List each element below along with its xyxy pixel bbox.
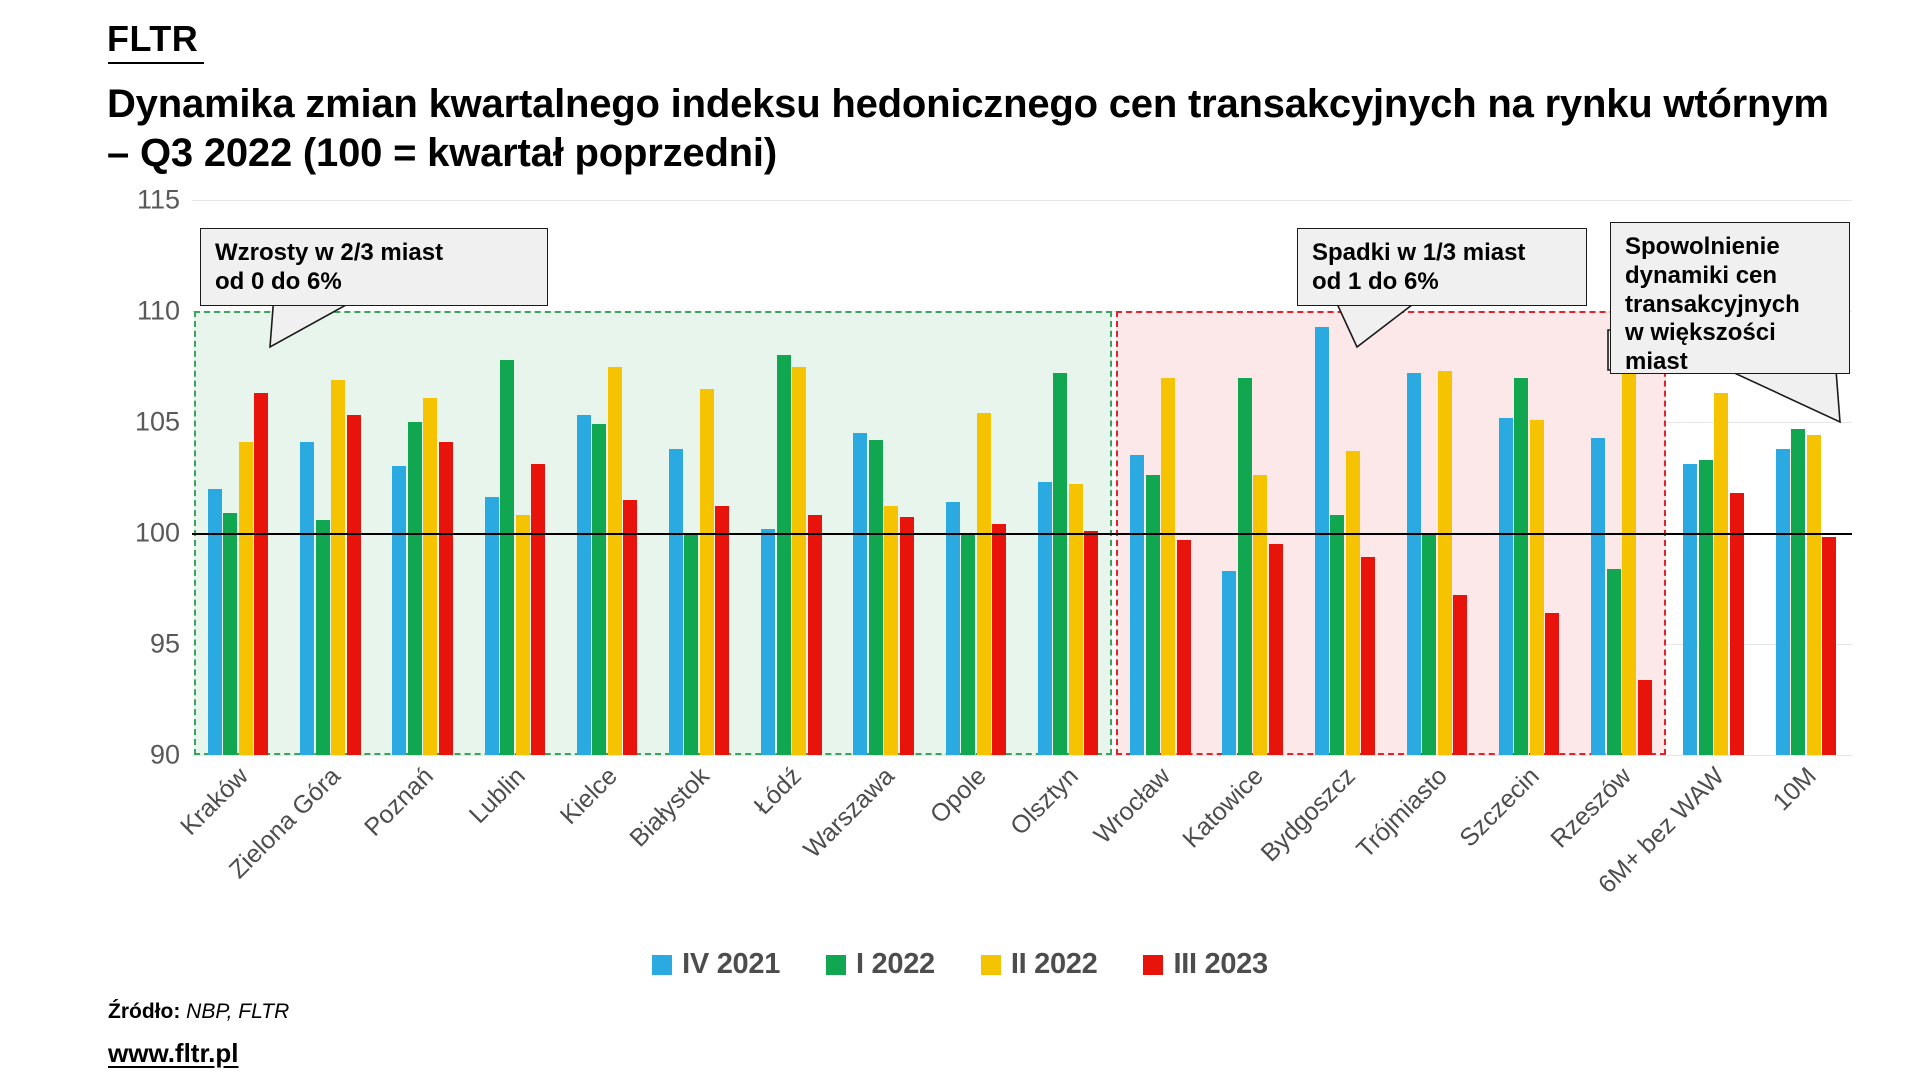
- bar[interactable]: [408, 422, 422, 755]
- bar[interactable]: [1238, 378, 1252, 755]
- x-axis-label: Rzeszów: [1546, 762, 1638, 854]
- chart-legend: IV 2021I 2022II 2022III 2023: [0, 948, 1920, 981]
- bar-group: [1206, 200, 1298, 755]
- bar[interactable]: [1530, 420, 1544, 755]
- x-axis-label: Kielce: [555, 762, 624, 831]
- bar[interactable]: [808, 515, 822, 755]
- y-axis-tick-label: 105: [70, 407, 180, 438]
- bar[interactable]: [239, 442, 253, 755]
- bar[interactable]: [1253, 475, 1267, 755]
- legend-swatch-icon: [981, 955, 1001, 975]
- bar[interactable]: [669, 449, 683, 755]
- bar[interactable]: [1807, 435, 1821, 755]
- callout-growth-text: Wzrosty w 2/3 miast od 0 do 6%: [215, 239, 535, 297]
- x-axis-label: 10M: [1767, 762, 1822, 817]
- bar[interactable]: [1330, 515, 1344, 755]
- x-axis-label: Trójmiasto: [1351, 762, 1453, 864]
- y-axis-tick-label: 90: [70, 740, 180, 771]
- bar[interactable]: [500, 360, 514, 755]
- x-axis-label: Szczecin: [1454, 762, 1545, 853]
- x-axis-label: Poznań: [359, 762, 439, 842]
- bar[interactable]: [208, 489, 222, 755]
- bar[interactable]: [300, 442, 314, 755]
- gridline: [192, 755, 1852, 756]
- y-axis-tick-label: 110: [70, 296, 180, 327]
- bar[interactable]: [884, 506, 898, 755]
- x-axis-label: Lublin: [464, 762, 532, 830]
- bar[interactable]: [1069, 484, 1083, 755]
- bar[interactable]: [869, 440, 883, 755]
- x-axis-label: Wrocław: [1089, 762, 1177, 850]
- y-axis-tick-label: 115: [70, 185, 180, 216]
- bar[interactable]: [792, 367, 806, 756]
- bar[interactable]: [1699, 460, 1713, 755]
- legend-label: I 2022: [856, 948, 935, 981]
- bar[interactable]: [423, 398, 437, 755]
- bar[interactable]: [1438, 371, 1452, 755]
- legend-item[interactable]: I 2022: [826, 948, 935, 981]
- bar[interactable]: [684, 533, 698, 755]
- y-axis-tick-label: 95: [70, 629, 180, 660]
- callout-slowdown-text: Spowolnienie dynamiki cen transakcyjnych…: [1625, 233, 1837, 377]
- callout-decline: Spadki w 1/3 miast od 1 do 6%: [1297, 228, 1587, 306]
- legend-item[interactable]: III 2023: [1143, 948, 1267, 981]
- bar[interactable]: [592, 424, 606, 755]
- y-axis-tick-label: 100: [70, 518, 180, 549]
- bar[interactable]: [623, 500, 637, 755]
- bar[interactable]: [853, 433, 867, 755]
- bar[interactable]: [439, 442, 453, 755]
- legend-swatch-icon: [652, 955, 672, 975]
- x-axis-label: Łódź: [749, 762, 808, 821]
- brand-logo: FLTR: [107, 18, 198, 60]
- legend-swatch-icon: [1143, 955, 1163, 975]
- page-title: Dynamika zmian kwartalnego indeksu hedon…: [107, 80, 1847, 178]
- legend-item[interactable]: IV 2021: [652, 948, 780, 981]
- bar[interactable]: [715, 506, 729, 755]
- bar[interactable]: [1607, 569, 1621, 755]
- bar[interactable]: [1591, 438, 1605, 755]
- bar[interactable]: [392, 466, 406, 755]
- bar[interactable]: [900, 517, 914, 755]
- callout-growth: Wzrosty w 2/3 miast od 0 do 6%: [200, 228, 548, 306]
- legend-label: II 2022: [1011, 948, 1098, 981]
- source-label: Źródło:: [108, 1000, 180, 1023]
- bar[interactable]: [608, 367, 622, 756]
- bar[interactable]: [1146, 475, 1160, 755]
- bar[interactable]: [1545, 613, 1559, 755]
- bar[interactable]: [485, 497, 499, 755]
- bar-group: [653, 200, 745, 755]
- bar[interactable]: [961, 533, 975, 755]
- x-axis-label: Bydgoszcz: [1255, 762, 1361, 868]
- bar-group: [1022, 200, 1114, 755]
- callout-slowdown: Spowolnienie dynamiki cen transakcyjnych…: [1610, 222, 1850, 374]
- bar-group: [1114, 200, 1206, 755]
- chart-page: FLTR Dynamika zmian kwartalnego indeksu …: [0, 0, 1920, 1080]
- bar[interactable]: [777, 355, 791, 755]
- legend-swatch-icon: [826, 955, 846, 975]
- x-axis-label: Białystok: [624, 762, 715, 853]
- bar[interactable]: [1453, 595, 1467, 755]
- legend-label: III 2023: [1173, 948, 1267, 981]
- bar[interactable]: [316, 520, 330, 755]
- legend-item[interactable]: II 2022: [981, 948, 1098, 981]
- website-link[interactable]: www.fltr.pl: [108, 1038, 238, 1069]
- bar[interactable]: [700, 389, 714, 755]
- bar[interactable]: [1053, 373, 1067, 755]
- source-value: NBP, FLTR: [186, 1000, 289, 1023]
- bar[interactable]: [1130, 455, 1144, 755]
- bar[interactable]: [577, 415, 591, 755]
- bar[interactable]: [223, 513, 237, 755]
- bar-group: [745, 200, 837, 755]
- callout-decline-text: Spadki w 1/3 miast od 1 do 6%: [1312, 239, 1574, 297]
- bar[interactable]: [1683, 464, 1697, 755]
- baseline-100-line: [192, 533, 1852, 535]
- x-axis-labels: KrakówZielona GóraPoznańLublinKielceBiał…: [192, 762, 1852, 942]
- bar[interactable]: [1222, 571, 1236, 755]
- x-axis-label: Opole: [925, 762, 993, 830]
- bar[interactable]: [1822, 537, 1836, 755]
- bar[interactable]: [1638, 680, 1652, 755]
- bar[interactable]: [1499, 418, 1513, 755]
- legend-label: IV 2021: [682, 948, 780, 981]
- bar[interactable]: [254, 393, 268, 755]
- bar[interactable]: [946, 502, 960, 755]
- bar-group: [930, 200, 1022, 755]
- bar[interactable]: [347, 415, 361, 755]
- bar[interactable]: [331, 380, 345, 755]
- x-axis-label: Olsztyn: [1005, 762, 1084, 841]
- bar[interactable]: [1514, 378, 1528, 755]
- bar[interactable]: [1038, 482, 1052, 755]
- bar[interactable]: [1084, 531, 1098, 755]
- bar-group: [838, 200, 930, 755]
- brand-underline: [108, 62, 204, 64]
- bar[interactable]: [1776, 449, 1790, 755]
- bar[interactable]: [516, 515, 530, 755]
- bar[interactable]: [761, 529, 775, 755]
- bar[interactable]: [531, 464, 545, 755]
- bar[interactable]: [977, 413, 991, 755]
- bar[interactable]: [1161, 378, 1175, 755]
- bar[interactable]: [1361, 557, 1375, 755]
- x-axis-label: Katowice: [1177, 762, 1269, 854]
- bar[interactable]: [1346, 451, 1360, 755]
- bar[interactable]: [1177, 540, 1191, 755]
- x-axis-label: Warszawa: [798, 762, 900, 864]
- bar[interactable]: [1791, 429, 1805, 755]
- bar[interactable]: [1315, 327, 1329, 755]
- bar[interactable]: [1407, 373, 1421, 755]
- source-note: Źródło: NBP, FLTR: [108, 1000, 289, 1024]
- bar[interactable]: [1269, 544, 1283, 755]
- x-axis-label: Kraków: [175, 762, 254, 841]
- bar[interactable]: [992, 524, 1006, 755]
- bar[interactable]: [1422, 533, 1436, 755]
